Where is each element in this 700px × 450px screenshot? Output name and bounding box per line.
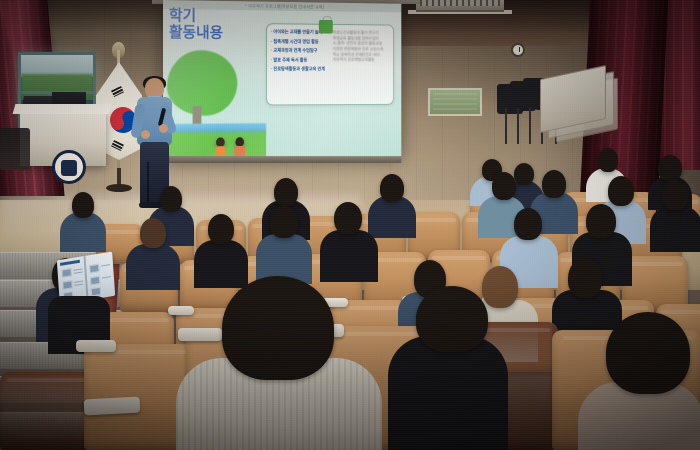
slide-bullet: · 발표 주제 독서 활동 xyxy=(271,57,329,63)
attendee-head xyxy=(334,202,362,234)
presenter-right-hand xyxy=(159,124,168,133)
attendee-body xyxy=(194,240,248,288)
attendee-head xyxy=(542,170,566,198)
attendee-body xyxy=(60,212,106,252)
attendee-body xyxy=(388,336,508,450)
slide-title-line-1: 학기 xyxy=(169,8,258,26)
attendee-head xyxy=(270,206,298,238)
podium-top xyxy=(13,104,112,114)
attendee-head xyxy=(662,180,688,210)
auditorium-photo: * 자유학기 프로그램(학부모용 안내서른 교재) 학기 활동내용 xyxy=(0,0,700,450)
school-emblem-mark xyxy=(61,160,77,176)
attendee-head xyxy=(208,214,234,244)
slide-title: 학기 활동내용 xyxy=(169,8,258,42)
pamphlet-thumb xyxy=(90,276,100,286)
slide-bullet-list: · 아이와는 교재를 만들기 눌려 · 접촉개별 시간대 영업 활동 · 교재과… xyxy=(271,29,329,76)
slide-right-paragraph: 학생소건교활동의 활기 연구기 학생교육 활동내용 참여수업이 소·중학~선진로… xyxy=(333,30,390,63)
screen-bottom-bar xyxy=(163,156,401,163)
attendee-head xyxy=(568,258,602,298)
ac-unit xyxy=(416,0,504,12)
stacked-tables xyxy=(540,72,618,146)
attendee-head xyxy=(482,266,518,308)
attendee-head xyxy=(514,208,542,240)
stage-chair xyxy=(0,128,30,170)
slide-bullet: · 접촉개별 시간대 영업 활동 xyxy=(271,38,329,44)
pamphlet-text-line xyxy=(101,264,110,267)
attendee-head xyxy=(274,178,298,206)
pamphlet-text-line xyxy=(102,276,111,279)
attendee-head xyxy=(72,192,94,218)
attendee-head xyxy=(416,286,488,352)
slide-bullet: · 교재과정과 연계 수업탐구 xyxy=(271,48,329,54)
attendee-head xyxy=(514,163,534,185)
slide-title-line-2: 활동내용 xyxy=(169,25,258,42)
armrest xyxy=(178,328,222,341)
projection-screen: * 자유학기 프로그램(학부모용 안내서른 교재) 학기 활동내용 xyxy=(163,0,401,160)
attendee-head xyxy=(586,204,616,238)
attendee-head xyxy=(492,172,516,200)
slide-bullet: · 진로탐색활동과 생활교육 연계 xyxy=(271,66,329,72)
pamphlet-thumb xyxy=(62,280,72,290)
paperclip-icon xyxy=(319,16,333,34)
presenter-left-hand xyxy=(141,130,150,139)
trigram-icon xyxy=(111,86,124,97)
notice-board xyxy=(428,88,482,116)
attendee-head xyxy=(598,148,618,172)
pamphlet-text-line xyxy=(74,271,83,274)
slide-text-card: · 아이와는 교재를 만들기 눌려 · 접촉개별 시간대 영업 활동 · 교재과… xyxy=(266,23,394,105)
armrest xyxy=(84,397,141,416)
armrest xyxy=(168,306,194,315)
seat xyxy=(0,372,96,450)
attendee-head xyxy=(606,312,690,394)
school-emblem xyxy=(52,150,86,184)
attendee-head xyxy=(658,155,682,181)
slide-illustration xyxy=(163,42,266,160)
attendee-head xyxy=(160,186,182,212)
tree-icon xyxy=(167,50,237,116)
flag-stand xyxy=(106,168,132,194)
armrest xyxy=(76,340,116,352)
slide-right-line: 자유학기·진로체험교육활동 xyxy=(333,57,390,63)
pamphlet-fold xyxy=(83,256,88,300)
attendee-head xyxy=(222,276,334,380)
trigram-icon xyxy=(111,140,124,151)
pamphlet-thumb xyxy=(91,287,101,297)
attendee-head xyxy=(380,174,404,202)
attendee-head xyxy=(608,176,634,206)
slide-content: * 자유학기 프로그램(학부모용 안내서른 교재) 학기 활동내용 xyxy=(163,0,401,160)
presenter-leg-split xyxy=(147,162,149,204)
pamphlet-thumb xyxy=(61,268,71,278)
ac-vents-icon xyxy=(420,0,500,6)
wall-clock-icon xyxy=(511,43,525,57)
pamphlet-thumb xyxy=(89,264,99,274)
pamphlet-header xyxy=(60,260,80,266)
attendee-body xyxy=(126,244,180,290)
attendee-body xyxy=(650,206,700,252)
attendee-body xyxy=(368,196,416,238)
pamphlet-text-line xyxy=(74,283,83,286)
attendee-body xyxy=(320,230,378,282)
attendee-head xyxy=(140,218,166,248)
notice-board-surface xyxy=(433,93,477,111)
paperclip-body xyxy=(319,20,333,34)
